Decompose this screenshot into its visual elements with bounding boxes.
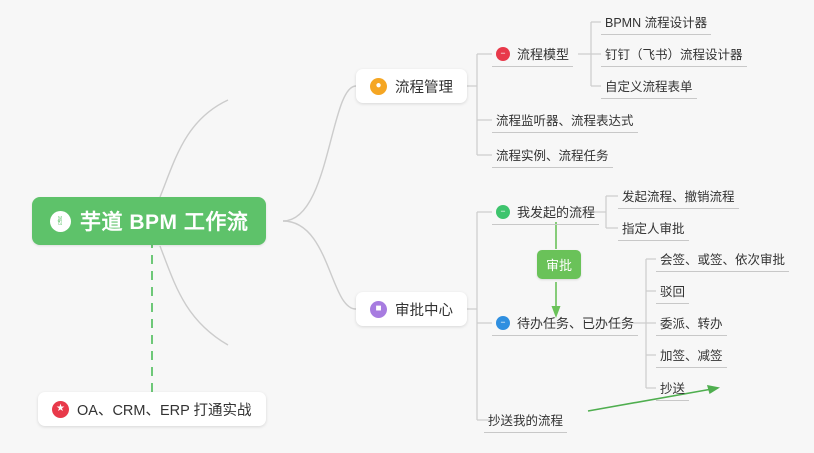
branch-approval-center[interactable]: ■ 审批中心 <box>356 292 467 326</box>
thumbs-up-icon: ✌ <box>50 211 71 232</box>
node-assign-approver[interactable]: 指定人审批 <box>618 218 689 241</box>
node-todo-done-task[interactable]: − 待办任务、已办任务 <box>492 313 638 336</box>
node-process-listener-expression[interactable]: 流程监听器、流程表达式 <box>492 110 638 133</box>
node-cc-to-me[interactable]: 抄送我的流程 <box>484 410 567 433</box>
minus-circle-icon: − <box>496 205 510 219</box>
note-label: OA、CRM、ERP 打通实战 <box>77 399 252 420</box>
node-reject[interactable]: 驳回 <box>656 281 689 304</box>
star-icon: ★ <box>52 401 69 418</box>
chat-bubble-icon: ■ <box>370 301 387 318</box>
root-label: 芋道 BPM 工作流 <box>80 206 248 236</box>
node-process-instance-task[interactable]: 流程实例、流程任务 <box>492 145 613 168</box>
node-bpmn-designer[interactable]: BPMN 流程设计器 <box>601 12 711 35</box>
node-dingtalk-feishu-designer[interactable]: 钉钉（飞书）流程设计器 <box>601 44 747 67</box>
node-start-cancel-process[interactable]: 发起流程、撤销流程 <box>618 186 739 209</box>
location-pin-icon: ● <box>370 78 387 95</box>
node-my-started-process[interactable]: − 我发起的流程 <box>492 202 599 225</box>
root-node[interactable]: ✌ 芋道 BPM 工作流 <box>32 197 266 245</box>
integration-note[interactable]: ★ OA、CRM、ERP 打通实战 <box>38 392 266 426</box>
node-cc[interactable]: 抄送 <box>656 378 689 401</box>
branch-process-management[interactable]: ● 流程管理 <box>356 69 467 103</box>
node-custom-process-form[interactable]: 自定义流程表单 <box>601 76 697 99</box>
node-countersign[interactable]: 会签、或签、依次审批 <box>656 249 789 272</box>
branch-label: 审批中心 <box>395 299 453 320</box>
node-delegate-transfer[interactable]: 委派、转办 <box>656 313 727 336</box>
mindmap-canvas: ✌ 芋道 BPM 工作流 ● 流程管理 ■ 审批中心 − 流程模型 流程监听器、… <box>0 0 814 453</box>
minus-circle-icon: − <box>496 47 510 61</box>
minus-circle-icon: − <box>496 316 510 330</box>
node-label: 待办任务、已办任务 <box>517 313 634 332</box>
callout-approval-tag[interactable]: 审批 <box>537 250 581 279</box>
branch-label: 流程管理 <box>395 76 453 97</box>
node-label: 我发起的流程 <box>517 202 595 221</box>
node-add-reduce-sign[interactable]: 加签、减签 <box>656 345 727 368</box>
node-process-model[interactable]: − 流程模型 <box>492 44 573 67</box>
node-label: 流程模型 <box>517 44 569 63</box>
